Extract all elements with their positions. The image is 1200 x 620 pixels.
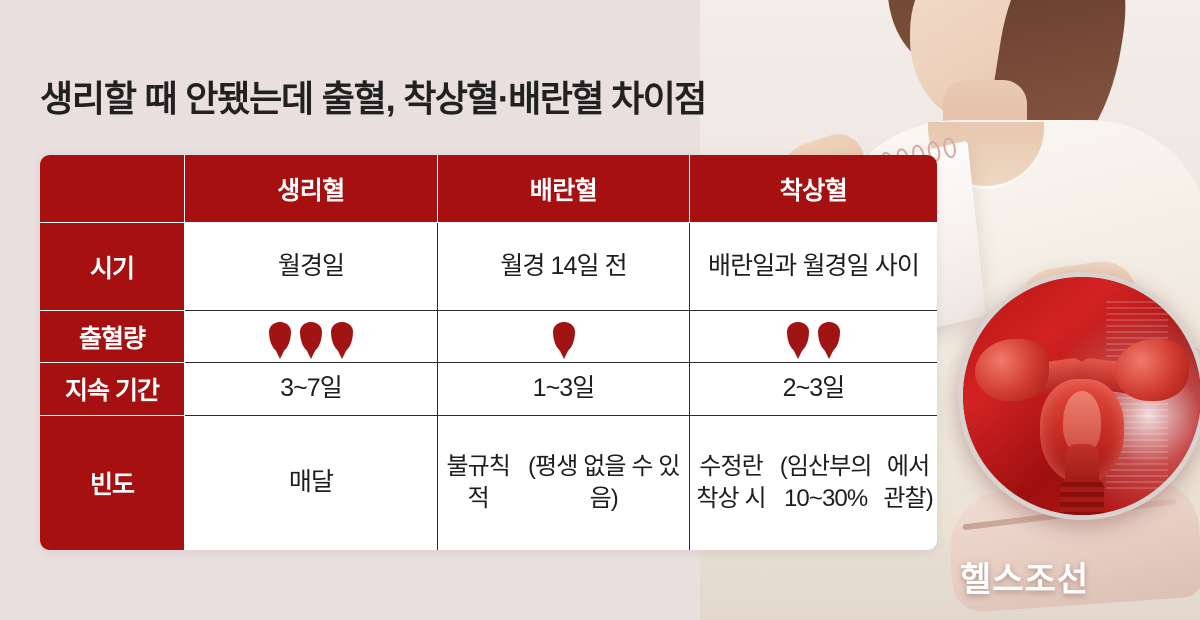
drop-group-ovulation: [553, 322, 575, 352]
table-header-implantation: 착상혈: [690, 155, 937, 223]
brand-logo: 헬스조선: [960, 552, 1089, 601]
cell-amount-ovulation: [438, 311, 690, 363]
blood-drop-icon: [269, 322, 291, 352]
table-row-timing: 시기 월경일 월경 14일 전 배란일과 월경일 사이: [40, 223, 937, 311]
row-label-duration: 지속 기간: [40, 363, 185, 416]
cell-duration-implantation: 2~3일: [690, 363, 937, 416]
vaginal-canal: [1060, 477, 1104, 520]
table-header-ovulation: 배란혈: [438, 155, 690, 223]
page-title-part2: 착상혈·배란혈 차이점: [403, 78, 705, 119]
cell-duration-ovulation: 1~3일: [438, 363, 690, 416]
drop-group-menstrual: [269, 322, 353, 352]
row-label-timing: 시기: [40, 223, 185, 311]
table-row-bleeding-amount: 출혈량: [40, 311, 937, 363]
cell-frequency-implantation: 수정란 착상 시(임산부의 10~30%에서 관찰): [690, 416, 937, 550]
blood-drop-icon: [818, 322, 840, 352]
blood-drop-icon: [300, 322, 322, 352]
blood-drop-icon: [331, 322, 353, 352]
table-header-row: 생리혈 배란혈 착상혈: [40, 155, 937, 223]
page-title-part1: 생리할 때 안됐는데 출혈,: [40, 78, 394, 119]
row-label-bleeding-amount: 출혈량: [40, 311, 185, 363]
cell-amount-menstrual: [185, 311, 438, 363]
row-label-frequency: 빈도: [40, 416, 185, 550]
table-header-menstrual: 생리혈: [185, 155, 438, 223]
comparison-table: 생리혈 배란혈 착상혈 시기 월경일 월경 14일 전 배란일과 월경일 사이 …: [40, 155, 937, 550]
drop-group-implantation: [787, 322, 840, 352]
cell-frequency-menstrual: 매달: [185, 416, 438, 550]
cell-timing-implantation: 배란일과 월경일 사이: [690, 223, 937, 311]
cell-duration-menstrual: 3~7일: [185, 363, 438, 416]
cell-timing-menstrual: 월경일: [185, 223, 438, 311]
table-row-duration: 지속 기간 3~7일 1~3일 2~3일: [40, 363, 937, 416]
medical-illustration-uterus: [958, 272, 1200, 520]
blood-drop-icon: [787, 322, 809, 352]
ovary-right: [1115, 339, 1189, 401]
cell-amount-implantation: [690, 311, 937, 363]
table-header-corner: [40, 155, 185, 223]
cell-frequency-ovulation: 불규칙적(평생 없을 수 있음): [438, 416, 690, 550]
ovary-left: [975, 339, 1049, 401]
cell-timing-ovulation: 월경 14일 전: [438, 223, 690, 311]
infographic-canvas: 생리할 때 안됐는데 출혈, 착상혈·배란혈 차이점 생리혈 배란혈 착상혈 시…: [0, 0, 1200, 620]
table-row-frequency: 빈도 매달 불규칙적(평생 없을 수 있음) 수정란 착상 시(임산부의 10~…: [40, 416, 937, 550]
blood-drop-icon: [553, 322, 575, 352]
page-title: 생리할 때 안됐는데 출혈, 착상혈·배란혈 차이점: [40, 76, 706, 121]
